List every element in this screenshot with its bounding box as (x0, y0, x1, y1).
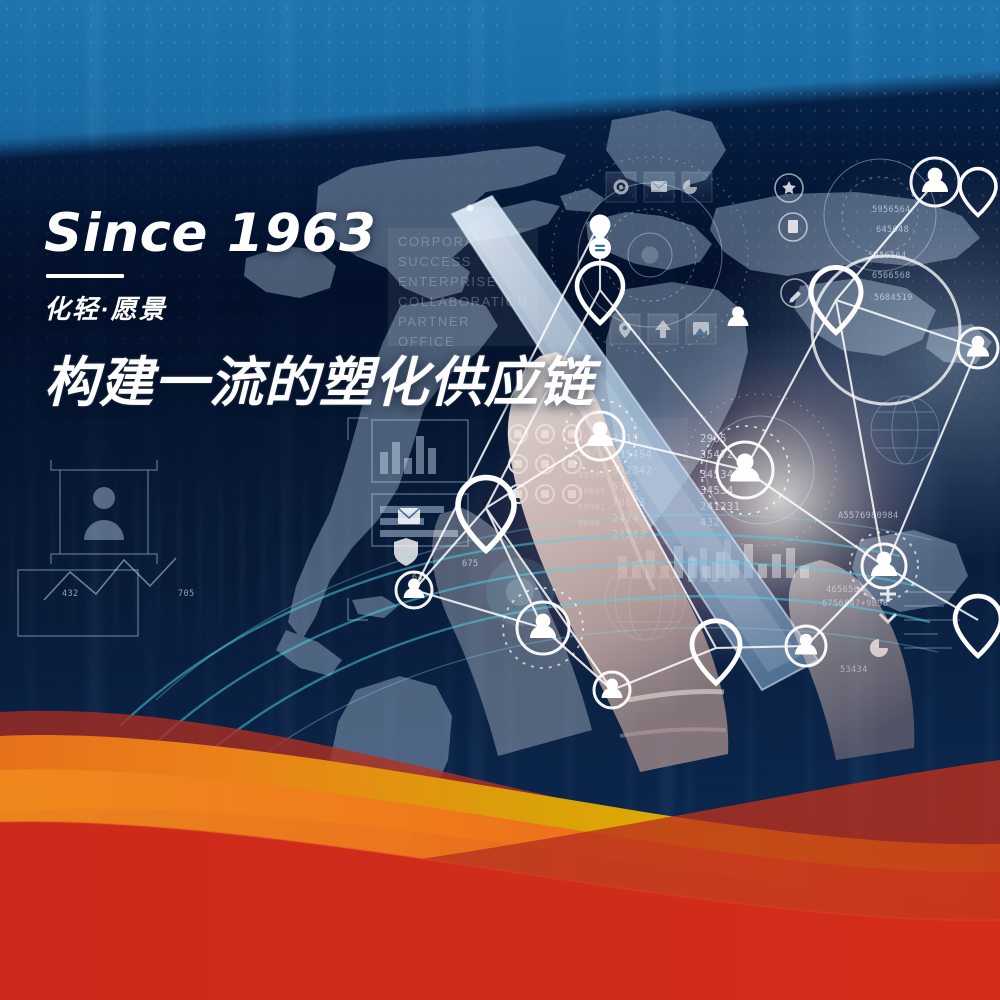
page-title: 构建一流的塑化供应链 (44, 338, 684, 417)
hero-copy: Since 1963 化轻·愿景 构建一流的塑化供应链 (44, 206, 684, 417)
eyebrow-since: Since 1963 (44, 206, 684, 261)
divider-rule (46, 274, 124, 278)
subtitle-vision: 化轻·愿景 (44, 289, 684, 326)
banner-canvas: CORPORATE SUCCESS ENTERPRISE COLLABORATI… (0, 0, 1000, 1000)
bottom-wave-graphics (0, 0, 1000, 1000)
